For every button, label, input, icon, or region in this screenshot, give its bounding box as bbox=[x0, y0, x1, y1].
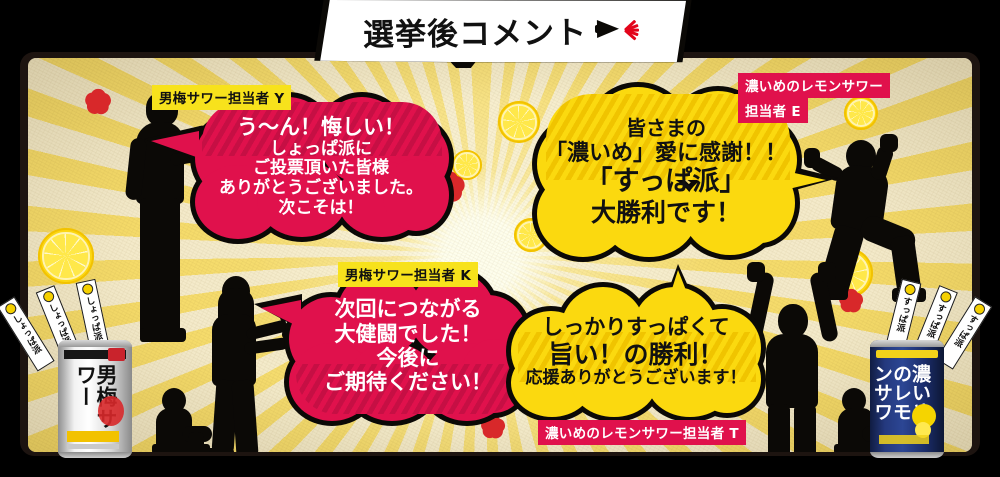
speaker-tag-y: 男梅サワー担当者 Y bbox=[152, 85, 291, 110]
bubble-line: 次回につながる bbox=[335, 297, 482, 321]
can-otokoume-sour: 男梅サワー bbox=[58, 340, 132, 458]
lemon-slice-icon bbox=[844, 96, 878, 130]
bubble-line: 旨い！の勝利！ bbox=[548, 340, 723, 369]
flag-label: すっぱ派 bbox=[951, 312, 981, 349]
bubble-line: う～ん！悔しい！ bbox=[237, 115, 405, 139]
flag-label: すっぱ派 bbox=[923, 301, 949, 339]
speech-bubble-y: う～ん！悔しい！ しょっぱ派に ご投票頂いた皆様 ありがとうございました。 次こ… bbox=[196, 98, 446, 236]
bubble-line: 大勝利です！ bbox=[591, 198, 741, 227]
speech-bubble-k: 次回につながる 大健闘でした！ 今後に ご期待ください！ bbox=[290, 272, 526, 420]
flag-label: しょっぱ派 bbox=[82, 295, 104, 342]
bubble-line: しっかりすっぱくて bbox=[542, 315, 730, 339]
can-koime-lemon-sour: 濃いめのレモンサワー bbox=[870, 340, 944, 458]
speaker-tag-t: 濃いめのレモンサワー担当者 T bbox=[538, 420, 746, 445]
title-banner-content: 選挙後コメント bbox=[318, 0, 687, 62]
bubble-line: 「すっぱ派」 bbox=[586, 166, 747, 197]
lemon-slice-icon bbox=[38, 228, 94, 284]
speech-bubble-k-text: 次回につながる 大健闘でした！ 今後に ご期待ください！ bbox=[290, 272, 526, 420]
bubble-line: 次こそは！ bbox=[279, 199, 364, 219]
lemon-slice-icon bbox=[498, 101, 540, 143]
megaphone-icon bbox=[595, 14, 641, 44]
bubble-line: 応援ありがとうございます！ bbox=[526, 369, 747, 389]
bubble-line: 「濃いめ」愛に感謝！！ bbox=[545, 141, 787, 167]
flag-label: すっぱ派 bbox=[893, 295, 914, 333]
bubble-line: ご期待ください！ bbox=[324, 370, 492, 394]
product-otokoume: しょっぱ派 しょっぱ派 しょっぱ派 男梅サワー bbox=[14, 280, 174, 460]
speech-bubble-t: しっかりすっぱくて 旨い！の勝利！ 応援ありがとうございます！ bbox=[512, 288, 760, 416]
speaker-tag-k: 男梅サワー担当者 K bbox=[338, 262, 478, 287]
poster-canvas: 選挙後コメント 男梅サワー担当者 Y bbox=[0, 0, 1000, 477]
flag-label: しょっぱ派 bbox=[9, 312, 44, 357]
bubble-line: ありがとうございました。 bbox=[219, 179, 423, 199]
speaker-tag-e-line2: 担当者 E bbox=[738, 98, 808, 123]
bubble-line: しょっぱ派に bbox=[270, 140, 372, 160]
speech-bubble-y-text: う～ん！悔しい！ しょっぱ派に ご投票頂いた皆様 ありがとうございました。 次こ… bbox=[196, 98, 446, 236]
speaker-tag-e-line1: 濃いめのレモンサワー bbox=[738, 73, 890, 98]
bubble-line: 今後に bbox=[377, 346, 440, 370]
bubble-line: 大健闘でした！ bbox=[335, 322, 482, 346]
bubble-line: ご投票頂いた皆様 bbox=[253, 159, 389, 179]
page-title: 選挙後コメント bbox=[363, 7, 587, 54]
bubble-line: 皆さまの bbox=[626, 117, 706, 140]
product-koime-lemon: すっぱ派 すっぱ派 すっぱ派 濃いめのレモンサワー bbox=[840, 280, 1000, 460]
speech-bubble-t-text: しっかりすっぱくて 旨い！の勝利！ 応援ありがとうございます！ bbox=[512, 288, 760, 416]
